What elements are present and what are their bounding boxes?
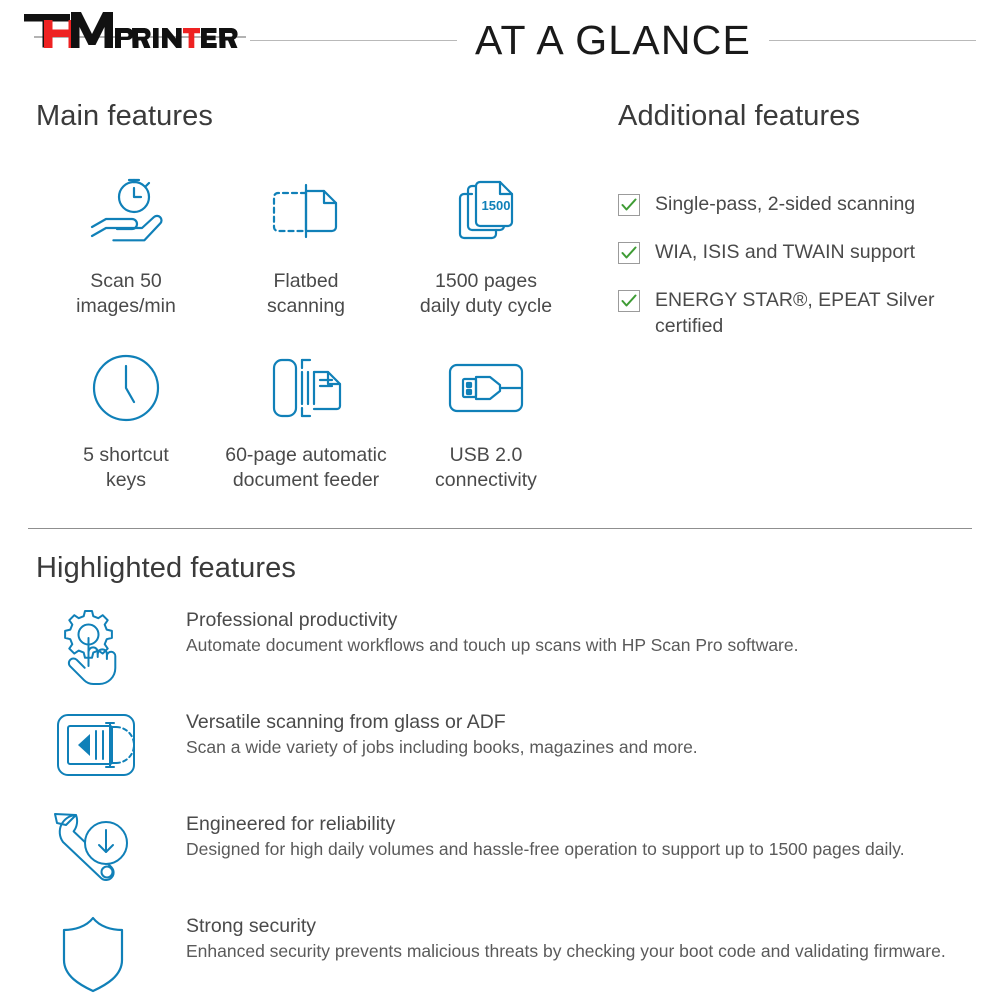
page-title: AT A GLANCE	[475, 17, 751, 64]
additional-features-section: Additional features Single-pass, 2-sided…	[618, 100, 978, 361]
list-item: Single-pass, 2-sided scanning	[618, 191, 978, 217]
main-feature-label: 60-page automatic document feeder	[225, 443, 387, 493]
additional-features-list: Single-pass, 2-sided scanning WIA, ISIS …	[618, 191, 978, 339]
highlighted-features-title: Highlighted features	[36, 552, 972, 585]
hand-stopwatch-icon	[78, 171, 174, 257]
main-feature-label: Flatbed scanning	[267, 269, 345, 319]
page-root: AT A GLANCE Main features	[0, 0, 1000, 1000]
header-rule-left	[250, 40, 457, 41]
main-feature-label: 5 shortcut keys	[83, 443, 169, 493]
highlighted-feature-description: Designed for high daily volumes and hass…	[186, 837, 972, 861]
section-divider	[28, 528, 972, 529]
highlighted-feature-body: Professional productivity Automate docum…	[186, 603, 972, 657]
highlighted-feature-heading: Versatile scanning from glass or ADF	[186, 709, 972, 735]
flatbed-scanner-icon	[262, 171, 350, 257]
page-stack-badge: 1500	[482, 198, 511, 213]
highlighted-feature-heading: Engineered for reliability	[186, 811, 972, 837]
document-feeder-icon	[258, 345, 354, 431]
page-header: AT A GLANCE	[0, 0, 1000, 78]
main-feature-item: 60-page automatic document feeder	[216, 345, 396, 493]
highlighted-feature-row: Versatile scanning from glass or ADF Sca…	[36, 705, 972, 791]
highlighted-feature-description: Scan a wide variety of jobs including bo…	[186, 735, 972, 759]
usb-connector-icon	[441, 345, 531, 431]
main-feature-item: 1500 1500 pages daily duty cycle	[396, 171, 576, 319]
page-stack-icon: 1500	[446, 171, 526, 257]
highlighted-feature-body: Versatile scanning from glass or ADF Sca…	[186, 705, 972, 759]
clock-icon	[88, 345, 164, 431]
shield-icon	[36, 909, 186, 995]
highlighted-feature-row: Engineered for reliability Designed for …	[36, 807, 972, 893]
highlighted-feature-heading: Professional productivity	[186, 607, 972, 633]
highlighted-feature-description: Automate document workflows and touch up…	[186, 633, 972, 657]
main-features-section: Main features Scan 50	[36, 100, 576, 493]
header-rule-right	[769, 40, 976, 41]
main-feature-label: 1500 pages daily duty cycle	[420, 269, 552, 319]
main-feature-label: USB 2.0 connectivity	[435, 443, 537, 493]
main-feature-item: Scan 50 images/min	[36, 171, 216, 319]
additional-feature-text: Single-pass, 2-sided scanning	[655, 191, 915, 217]
gear-hand-icon	[36, 603, 186, 689]
list-item: ENERGY STAR®, EPEAT Silver certified	[618, 287, 978, 339]
main-feature-item: USB 2.0 connectivity	[396, 345, 576, 493]
highlighted-feature-row: Strong security Enhanced security preven…	[36, 909, 972, 995]
main-feature-item: Flatbed scanning	[216, 171, 396, 319]
highlighted-feature-body: Engineered for reliability Designed for …	[186, 807, 972, 861]
check-box-icon	[618, 194, 640, 216]
additional-feature-text: ENERGY STAR®, EPEAT Silver certified	[655, 287, 978, 339]
highlighted-features-section: Highlighted features Professional produc…	[36, 552, 972, 1000]
highlighted-feature-row: Professional productivity Automate docum…	[36, 603, 972, 689]
main-features-grid: Scan 50 images/min Flatbed scanning	[36, 171, 576, 493]
highlighted-feature-body: Strong security Enhanced security preven…	[186, 909, 972, 963]
glance-title-bar: AT A GLANCE	[250, 14, 976, 66]
main-features-title: Main features	[36, 100, 576, 133]
main-feature-item: 5 shortcut keys	[36, 345, 216, 493]
check-box-icon	[618, 242, 640, 264]
wrench-arrow-icon	[36, 807, 186, 893]
additional-feature-text: WIA, ISIS and TWAIN support	[655, 239, 915, 265]
highlighted-feature-description: Enhanced security prevents malicious thr…	[186, 939, 972, 963]
highlighted-feature-heading: Strong security	[186, 913, 972, 939]
scanner-glass-adf-icon	[36, 705, 186, 791]
main-feature-label: Scan 50 images/min	[76, 269, 176, 319]
check-box-icon	[618, 290, 640, 312]
additional-features-title: Additional features	[618, 100, 978, 133]
thm-printer-logo	[16, 6, 246, 56]
list-item: WIA, ISIS and TWAIN support	[618, 239, 978, 265]
